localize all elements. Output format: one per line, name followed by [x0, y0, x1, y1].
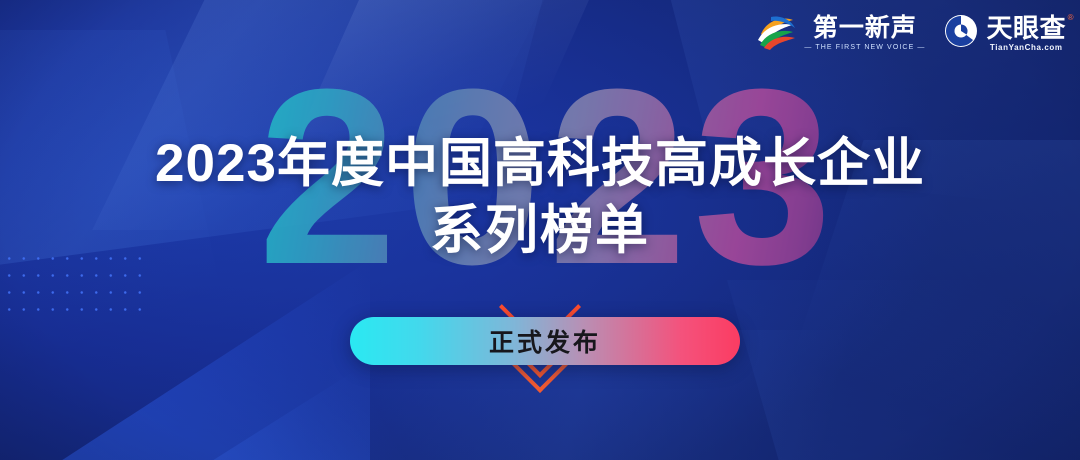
- release-button-label: 正式发布: [489, 323, 601, 359]
- headline-line-2: 系列榜单: [0, 201, 1080, 260]
- tianyancha-tagline: TianYanCha.com: [990, 44, 1063, 52]
- tianyancha-title-text: 天眼查: [986, 13, 1066, 43]
- logo-row: 第一新声 — THE FIRST NEW VOICE — 天眼查® TianYa…: [755, 12, 1066, 55]
- promo-banner: 2023 第一新声 — THE FIRST NEW VOICE —: [0, 0, 1080, 460]
- logo-tianyancha[interactable]: 天眼查® TianYanCha.com: [943, 13, 1066, 54]
- headline-line-1: 2023年度中国高科技高成长企业: [0, 134, 1080, 193]
- trademark-icon: ®: [1068, 14, 1074, 22]
- diyixinsheng-tagline: — THE FIRST NEW VOICE —: [804, 44, 925, 51]
- tianyancha-text: 天眼查® TianYanCha.com: [986, 15, 1066, 52]
- diyixinsheng-text: 第一新声 — THE FIRST NEW VOICE —: [804, 16, 925, 51]
- page-title: 2023年度中国高科技高成长企业 系列榜单: [0, 134, 1080, 261]
- logo-diyixinsheng[interactable]: 第一新声 — THE FIRST NEW VOICE —: [755, 12, 925, 55]
- tianyancha-title: 天眼查®: [986, 15, 1066, 41]
- diyixinsheng-mark-icon: [755, 12, 797, 55]
- diyixinsheng-title: 第一新声: [813, 16, 917, 41]
- tianyancha-mark-icon: [943, 13, 979, 54]
- release-button[interactable]: 正式发布: [350, 317, 740, 365]
